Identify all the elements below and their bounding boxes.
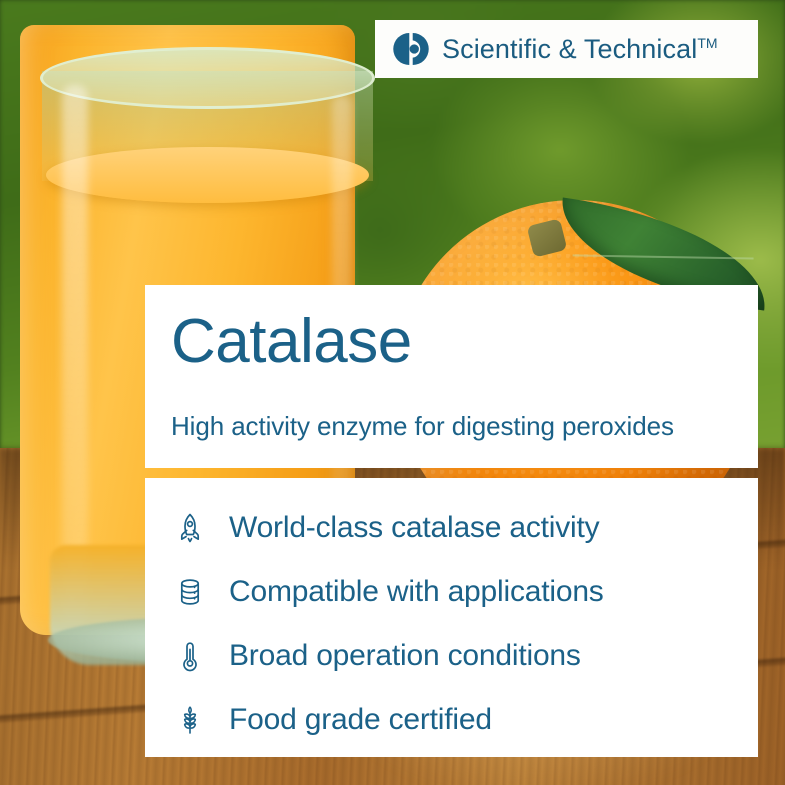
glass-highlight-left — [62, 85, 88, 625]
brand-badge[interactable]: Scientific & TechnicalTM — [375, 20, 758, 78]
split-circle-logo-icon — [393, 31, 429, 67]
brand-name-text: Scientific & Technical — [442, 34, 697, 64]
list-item-label: Food grade certified — [229, 703, 492, 737]
brand-name: Scientific & TechnicalTM — [442, 34, 718, 65]
list-item[interactable]: Food grade certified — [145, 688, 758, 752]
product-title-card: Catalase High activity enzyme for digest… — [145, 285, 758, 468]
juice-surface — [46, 147, 369, 203]
list-item-label: Broad operation conditions — [229, 639, 581, 673]
list-item[interactable]: Broad operation conditions — [145, 624, 758, 688]
product-subtitle: High activity enzyme for digesting perox… — [171, 411, 740, 442]
database-icon — [167, 576, 213, 608]
rocket-icon — [167, 512, 213, 544]
thermometer-icon — [167, 640, 213, 672]
features-card: World-class catalase activity Compatible… — [145, 478, 758, 757]
list-item-label: World-class catalase activity — [229, 511, 599, 545]
page-title: Catalase — [171, 309, 732, 375]
list-item-label: Compatible with applications — [229, 575, 604, 609]
list-item[interactable]: World-class catalase activity — [145, 496, 758, 560]
glass-rim — [40, 47, 375, 109]
wheat-icon — [167, 704, 213, 736]
poster-canvas: Scientific & TechnicalTM Catalase High a… — [0, 0, 785, 785]
list-item[interactable]: Compatible with applications — [145, 560, 758, 624]
trademark-symbol: TM — [697, 35, 717, 51]
